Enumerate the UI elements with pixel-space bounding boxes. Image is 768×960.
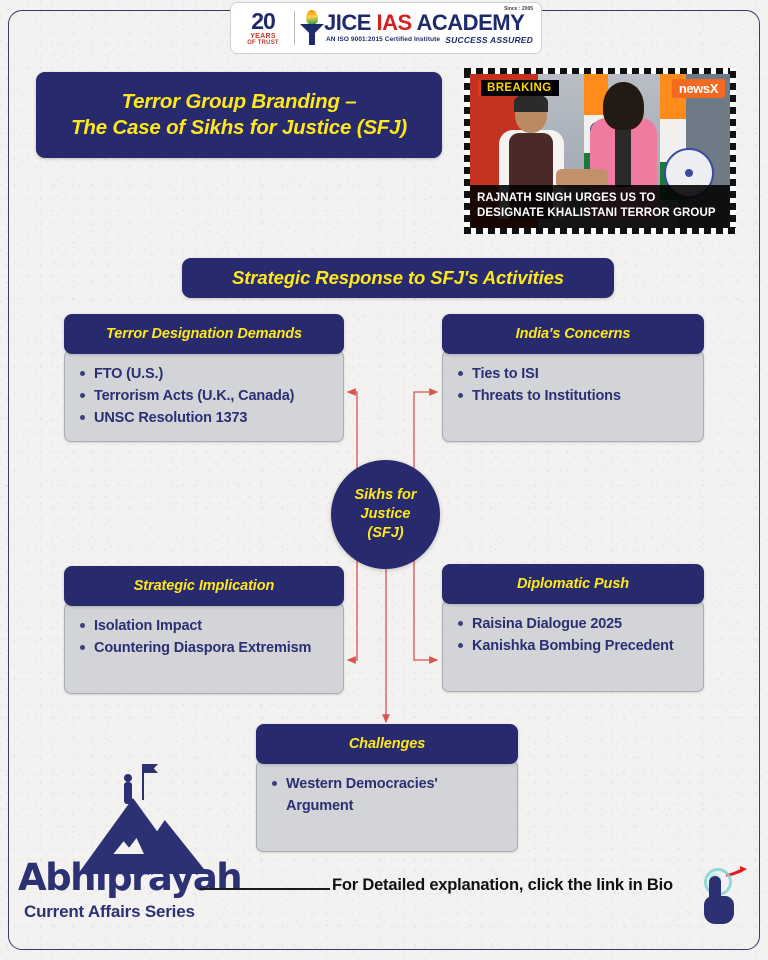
hub-label: Sikhs for Justice (SFJ) <box>354 486 416 543</box>
hub-line3: (SFJ) <box>367 525 403 541</box>
node-body: Raisina Dialogue 2025 Kanishka Bombing P… <box>442 600 704 692</box>
node-body: Isolation Impact Countering Diaspora Ext… <box>64 602 344 694</box>
list-item: Countering Diaspora Extremism <box>79 637 333 659</box>
node-challenges: Challenges Western Democracies' Argument <box>256 724 518 852</box>
hub-line2: Justice <box>361 506 411 522</box>
news-screenshot-card: BREAKING newsX RAJNATH SINGH URGES US TO… <box>464 68 736 234</box>
node-diplomatic-push: Diplomatic Push Raisina Dialogue 2025 Ka… <box>442 564 704 692</box>
trust-label: OF TRUST <box>237 40 289 46</box>
node-title: Challenges <box>349 736 425 752</box>
section-banner: Strategic Response to SFJ's Activities <box>182 258 614 298</box>
node-body: Western Democracies' Argument <box>256 760 518 852</box>
node-title: Diplomatic Push <box>517 576 629 592</box>
years-label: YEARS <box>237 33 289 40</box>
page-title-text: Terror Group Branding – The Case of Sikh… <box>63 89 415 141</box>
node-header: Strategic Implication <box>64 566 344 606</box>
abhiprayah-logo: Abhiprayah Current Affairs Series <box>18 798 218 938</box>
list-item: Threats to Institutions <box>457 385 693 407</box>
academy-name-ias: IAS <box>377 10 417 35</box>
node-body: FTO (U.S.) Terrorism Acts (U.K., Canada)… <box>64 350 344 442</box>
node-title: India's Concerns <box>516 326 631 342</box>
node-header: Terror Designation Demands <box>64 314 344 354</box>
node-indias-concerns: India's Concerns Ties to ISI Threats to … <box>442 314 704 442</box>
news-headline: RAJNATH SINGH URGES US TO DESIGNATE KHAL… <box>470 185 730 228</box>
academy-name: JICE IAS ACADEMY <box>324 10 524 36</box>
page-title-line1: Terror Group Branding – <box>122 90 357 113</box>
cta-divider-line <box>200 888 330 890</box>
node-title: Terror Designation Demands <box>106 326 302 342</box>
list-item: FTO (U.S.) <box>79 363 333 385</box>
cta-text: For Detailed explanation, click the link… <box>332 876 673 895</box>
list-item: Kanishka Bombing Precedent <box>457 635 693 657</box>
node-header: Diplomatic Push <box>442 564 704 604</box>
node-header: India's Concerns <box>442 314 704 354</box>
news-headline-line1: RAJNATH SINGH URGES US TO <box>477 192 655 204</box>
abhiprayah-wordmark: Abhiprayah <box>18 856 241 899</box>
list-item: UNSC Resolution 1373 <box>79 407 333 429</box>
newsx-channel-logo: newsX <box>672 79 725 98</box>
central-hub-node: Sikhs for Justice (SFJ) <box>331 460 440 569</box>
node-title: Strategic Implication <box>134 578 275 594</box>
node-header: Challenges <box>256 724 518 764</box>
academy-logo-bar: 20 YEARS OF TRUST Since : 2005 JICE IAS … <box>230 2 542 54</box>
logo-divider <box>294 11 295 45</box>
academy-name-block: Since : 2005 JICE IAS ACADEMY AN ISO 900… <box>324 5 535 51</box>
breaking-badge: BREAKING <box>478 80 559 96</box>
abhiprayah-subtitle: Current Affairs Series <box>24 902 195 922</box>
news-photo: BREAKING newsX RAJNATH SINGH URGES US TO… <box>470 74 730 228</box>
node-terror-designation-demands: Terror Designation Demands FTO (U.S.) Te… <box>64 314 344 442</box>
academy-name-jice: JICE <box>324 10 377 35</box>
tagline: SUCCESS ASSURED <box>445 35 533 45</box>
page-title: Terror Group Branding – The Case of Sikh… <box>36 72 442 158</box>
academy-name-academy: ACADEMY <box>417 10 525 35</box>
flame-torch-icon <box>300 8 324 48</box>
page-title-line2: The Case of Sikhs for Justice (SFJ) <box>71 116 407 139</box>
tap-hand-icon[interactable] <box>700 868 744 928</box>
years-of-trust-badge: 20 YEARS OF TRUST <box>237 10 289 46</box>
news-headline-line2: DESIGNATE KHALISTANI TERROR GROUP <box>477 207 716 219</box>
list-item: Raisina Dialogue 2025 <box>457 613 693 635</box>
iso-certification-label: AN ISO 9001:2015 Certified Institute <box>326 36 440 43</box>
node-body: Ties to ISI Threats to Institutions <box>442 350 704 442</box>
hub-line1: Sikhs for <box>354 487 416 503</box>
list-item: Ties to ISI <box>457 363 693 385</box>
list-item: Terrorism Acts (U.K., Canada) <box>79 385 333 407</box>
node-strategic-implication: Strategic Implication Isolation Impact C… <box>64 566 344 694</box>
list-item: Isolation Impact <box>79 615 333 637</box>
section-banner-text: Strategic Response to SFJ's Activities <box>232 267 564 289</box>
years-number: 20 <box>237 10 289 33</box>
list-item: Western Democracies' Argument <box>271 773 507 817</box>
